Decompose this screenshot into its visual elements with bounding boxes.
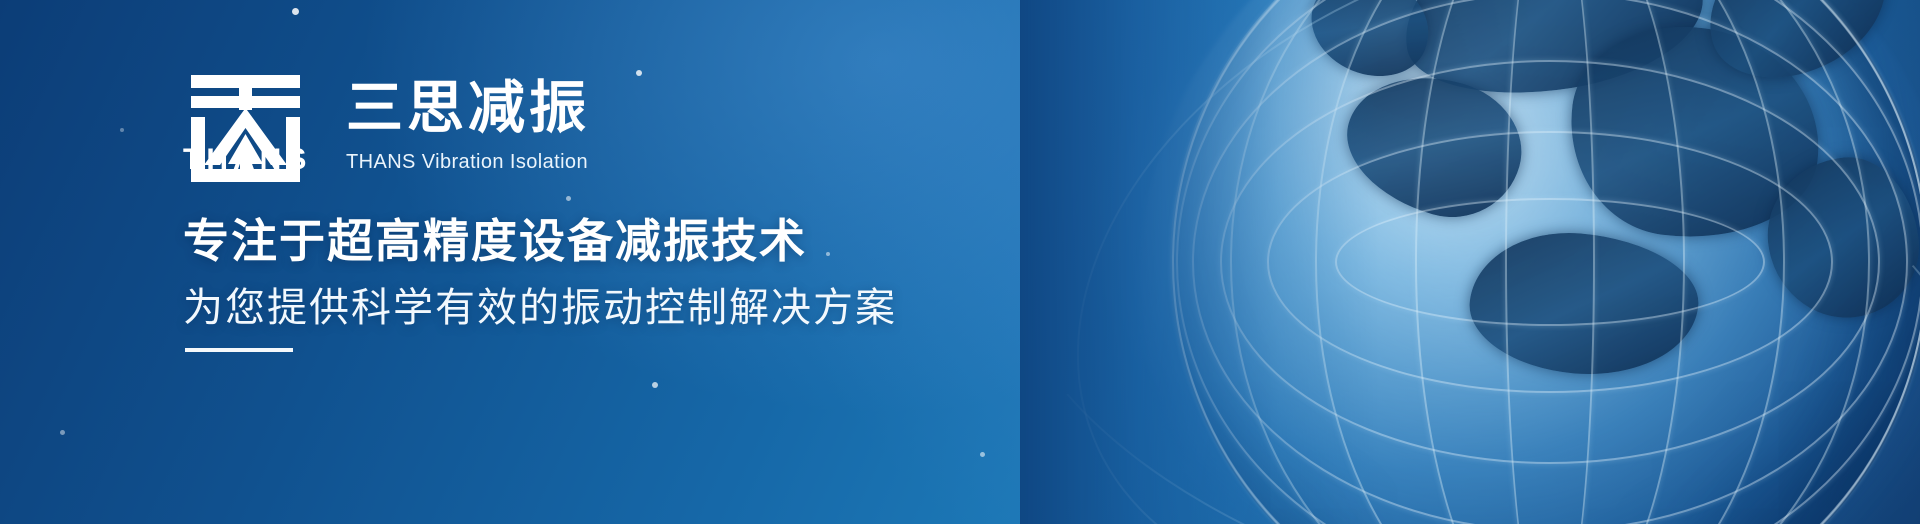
hero-banner: 三思减振 THANS Vibration Isolation THANS 专注于… [0,0,1920,524]
sparkle-dot [120,128,124,132]
brand-text-block: 三思减振 THANS Vibration Isolation [346,72,590,174]
sparkle-dot [60,430,65,435]
brand-name-en: THANS Vibration Isolation [346,151,590,174]
banner-subheadline: 为您提供科学有效的振动控制解决方案 [183,275,897,333]
wireframe-globe-image [1020,0,1920,524]
brand-name-cn: 三思减振 [346,80,590,137]
accent-rule [185,348,293,352]
brand-wordmark: THANS [183,143,311,177]
banner-content: 三思减振 THANS Vibration Isolation THANS 专注于… [183,0,1083,524]
banner-headline: 专注于超高精度设备减振技术 [183,205,807,271]
